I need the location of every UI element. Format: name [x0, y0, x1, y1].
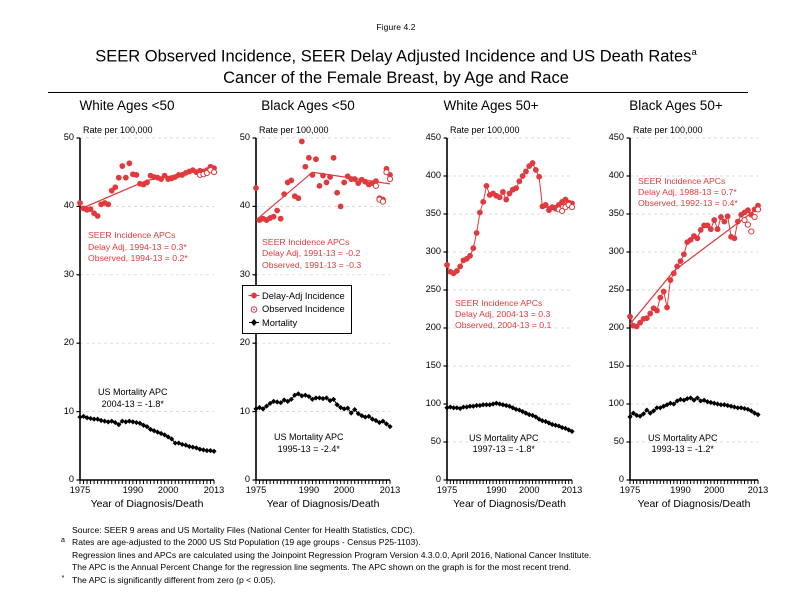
y-tick-label: 200	[578, 322, 624, 332]
delay-adj-incidence-marker	[126, 160, 132, 166]
figure-label: Figure 4.2	[0, 22, 792, 32]
y-tick-label: 10	[32, 406, 74, 416]
x-axis-title: Year of Diagnosis/Death	[66, 498, 228, 510]
legend-item: Observed Incidence	[247, 303, 345, 317]
delay-adj-incidence-marker	[536, 174, 542, 180]
y-tick-label: 250	[578, 284, 624, 294]
delay-adj-incidence-marker	[278, 216, 284, 222]
y-tick-label: 20	[213, 337, 250, 347]
delay-adj-incidence-marker	[341, 180, 347, 186]
observed-incidence-marker	[569, 205, 574, 210]
y-tick-label: 350	[397, 208, 441, 218]
chart-panel-white-50-plus: White Ages 50+Rate per 100,0000501001502…	[397, 98, 585, 498]
y-tick-label: 350	[578, 208, 624, 218]
delay-adj-incidence-marker	[134, 172, 140, 178]
observed-incidence-marker	[380, 199, 385, 204]
delay-adj-incidence-marker	[721, 219, 727, 225]
x-tick-label: 2000	[328, 485, 360, 495]
mortality-apc-annotation: US Mortality APC2004-13 = -1.8*	[98, 387, 168, 410]
delay-adj-incidence-marker	[313, 156, 319, 162]
y-tick-label: 0	[397, 474, 441, 484]
y-tick-label: 100	[578, 398, 624, 408]
incidence-apc-observed: Observed, 1991-13 = -0.3	[262, 260, 361, 271]
x-tick-label: 1975	[431, 485, 463, 495]
incidence-apc-annotation: SEER Incidence APCsDelay Adj, 2004-13 = …	[455, 298, 551, 332]
y-tick-label: 10	[213, 406, 250, 416]
delay-adj-incidence-marker	[735, 219, 741, 225]
delay-adj-incidence-marker	[477, 210, 483, 216]
incidence-apc-delay-adj: Delay Adj, 1988-13 = 0.7*	[638, 187, 738, 198]
delay-adj-incidence-marker	[530, 160, 536, 166]
footnote-line: The APC is the Annual Percent Change for…	[0, 561, 792, 573]
delay-adj-incidence-marker	[484, 183, 490, 189]
incidence-apc-annotation: SEER Incidence APCsDelay Adj, 1994-13 = …	[88, 230, 188, 264]
x-axis-title: Year of Diagnosis/Death	[242, 498, 404, 510]
delay-adj-incidence-marker	[647, 311, 653, 317]
delay-adj-incidence-marker	[302, 164, 308, 170]
y-tick-label: 40	[213, 200, 250, 210]
y-tick-label: 300	[397, 246, 441, 256]
delay-adj-incidence-marker	[681, 251, 687, 257]
incidence-apc-delay-adj: Delay Adj, 1994-13 = 0.3*	[88, 242, 188, 253]
delay-adj-incidence-marker	[664, 305, 670, 311]
y-tick-label: 150	[397, 360, 441, 370]
delay-adj-incidence-marker	[299, 139, 305, 145]
incidence-apc-annotation: SEER Incidence APCsDelay Adj, 1988-13 = …	[638, 176, 738, 210]
title-superscript: a	[691, 47, 696, 58]
mortality-apc-header: US Mortality APC	[98, 387, 168, 399]
legend-item: Mortality	[247, 316, 345, 330]
delay-adj-incidence-marker	[725, 213, 731, 219]
delay-adj-incidence-marker	[288, 178, 294, 184]
filled-black-marker-icon	[247, 317, 262, 328]
delay-adj-incidence-marker	[457, 264, 463, 270]
open-red-marker-icon	[247, 304, 262, 315]
delay-adj-incidence-marker	[708, 226, 714, 232]
y-tick-label: 50	[397, 436, 441, 446]
delay-adj-incidence-marker	[253, 185, 259, 191]
delay-adj-incidence-marker	[513, 185, 519, 191]
mortality-apc-annotation: US Mortality APC1997-13 = -1.8*	[469, 433, 539, 456]
chart-legend: Delay-Adj IncidenceObserved IncidenceMor…	[242, 285, 352, 334]
incidence-apc-header: SEER Incidence APCs	[88, 230, 188, 241]
x-tick-label: 1975	[64, 485, 96, 495]
delay-adj-incidence-marker	[678, 258, 684, 264]
delay-adj-incidence-marker	[123, 175, 129, 181]
incidence-apc-header: SEER Incidence APCs	[455, 298, 551, 309]
plot-area-white-under-50	[32, 98, 222, 498]
observed-incidence-marker	[755, 207, 760, 212]
delay-adj-incidence-marker	[671, 270, 677, 276]
y-tick-label: 300	[578, 246, 624, 256]
mortality-apc-header: US Mortality APC	[274, 432, 344, 444]
delay-adj-incidence-marker	[274, 208, 280, 214]
delay-adj-incidence-marker	[317, 183, 323, 189]
observed-incidence-marker	[742, 217, 747, 222]
delay-adj-incidence-marker	[119, 163, 125, 169]
mortality-apc-header: US Mortality APC	[469, 433, 539, 445]
y-tick-label: 400	[397, 170, 441, 180]
delay-adj-incidence-marker	[661, 289, 667, 295]
x-axis-title: Year of Diagnosis/Death	[616, 498, 772, 510]
y-tick-label: 100	[397, 398, 441, 408]
y-tick-label: 50	[213, 132, 250, 142]
delay-adj-incidence-marker	[334, 190, 340, 196]
incidence-apc-delay-adj: Delay Adj, 1991-13 = -0.2	[262, 248, 361, 259]
chart-panel-white-under-50: White Ages <50Rate per 100,0000102030405…	[32, 98, 222, 498]
delay-adj-incidence-marker	[295, 195, 301, 201]
mortality-apc-value: 1993-13 = -1.2*	[648, 444, 718, 456]
y-tick-label: 450	[578, 132, 624, 142]
delay-adj-incidence-marker	[654, 308, 660, 314]
y-tick-label: 400	[578, 170, 624, 180]
x-axis-title: Year of Diagnosis/Death	[433, 498, 586, 510]
delay-adj-incidence-marker	[474, 230, 480, 236]
delay-adj-incidence-marker	[668, 277, 674, 283]
footnote-text: The APC is the Annual Percent Change for…	[72, 562, 571, 572]
mortality-apc-value: 1997-13 = -1.8*	[469, 444, 539, 456]
x-tick-label: 2013	[742, 485, 774, 495]
delay-adj-incidence-marker	[320, 173, 326, 179]
footnote-line: Source: SEER 9 areas and US Mortality Fi…	[0, 524, 792, 536]
delay-adj-incidence-marker	[144, 180, 150, 186]
x-tick-label: 1990	[293, 485, 325, 495]
observed-incidence-marker	[752, 214, 757, 219]
incidence-apc-header: SEER Incidence APCs	[638, 176, 738, 187]
mortality-apc-value: 2004-13 = -1.8*	[98, 399, 168, 411]
delay-adj-incidence-marker	[467, 253, 473, 259]
x-tick-label: 1990	[117, 485, 149, 495]
footnote-marker: a	[57, 535, 69, 547]
y-tick-label: 0	[578, 474, 624, 484]
y-tick-label: 30	[213, 269, 250, 279]
legend-item: Delay-Adj Incidence	[247, 289, 345, 303]
x-tick-label: 1975	[614, 485, 646, 495]
observed-incidence-marker	[749, 229, 754, 234]
title-line-1: SEER Observed Incidence, SEER Delay Adju…	[95, 48, 691, 66]
delay-adj-incidence-marker	[732, 235, 738, 241]
observed-incidence-marker	[384, 170, 389, 175]
mortality-apc-header: US Mortality APC	[648, 433, 718, 445]
delay-adj-incidence-marker	[470, 245, 476, 251]
delay-adj-incidence-marker	[480, 199, 486, 205]
incidence-apc-annotation: SEER Incidence APCsDelay Adj, 1991-13 = …	[262, 237, 361, 271]
delay-adj-incidence-marker	[674, 264, 680, 270]
observed-incidence-marker	[745, 222, 750, 227]
delay-adj-incidence-marker	[503, 197, 509, 203]
delay-adj-incidence-marker	[95, 213, 101, 219]
footnote-text: Source: SEER 9 areas and US Mortality Fi…	[72, 525, 415, 535]
delay-adj-incidence-marker	[271, 214, 277, 220]
mortality-apc-annotation: US Mortality APC1993-13 = -1.2*	[648, 433, 718, 456]
delay-adj-incidence-marker	[500, 189, 506, 195]
y-tick-label: 50	[32, 132, 74, 142]
x-tick-label: 2000	[698, 485, 730, 495]
x-tick-label: 2000	[152, 485, 184, 495]
observed-incidence-marker	[373, 183, 378, 188]
delay-adj-incidence-marker	[327, 174, 333, 180]
delay-adj-incidence-marker	[324, 180, 330, 186]
incidence-apc-observed: Observed, 1992-13 = 0.4*	[638, 198, 738, 209]
delay-adj-incidence-marker	[112, 184, 118, 190]
y-tick-label: 50	[578, 436, 624, 446]
delay-adj-incidence-marker	[306, 155, 312, 161]
footnote-text: Rates are age-adjusted to the 2000 US St…	[72, 537, 421, 547]
mortality-apc-value: 1995-13 = -2.4*	[274, 444, 344, 456]
incidence-apc-header: SEER Incidence APCs	[262, 237, 361, 248]
delay-adj-incidence-marker	[657, 295, 663, 301]
incidence-apc-observed: Observed, 2004-13 = 0.1	[455, 320, 551, 331]
title-line-2: Cancer of the Female Breast, by Age and …	[223, 69, 569, 87]
delay-adj-incidence-marker	[543, 202, 549, 208]
delay-adj-incidence-marker	[516, 178, 522, 184]
x-tick-label: 2000	[513, 485, 545, 495]
y-tick-label: 450	[397, 132, 441, 142]
footnote-marker: *	[57, 573, 69, 585]
delay-adj-incidence-marker	[310, 172, 316, 178]
y-tick-label: 30	[32, 269, 74, 279]
mortality-apc-annotation: US Mortality APC1995-13 = -2.4*	[274, 432, 344, 455]
footnote-line: Regression lines and APCs are calculated…	[0, 549, 792, 561]
footnote-text: Regression lines and APCs are calculated…	[72, 550, 591, 560]
y-tick-label: 200	[397, 322, 441, 332]
delay-adj-incidence-marker	[105, 201, 111, 207]
delay-adj-incidence-marker	[694, 235, 700, 241]
y-tick-label: 0	[32, 474, 74, 484]
filled-red-marker-icon	[247, 290, 262, 301]
observed-incidence-marker	[387, 176, 392, 181]
delay-adj-incidence-marker	[711, 217, 717, 223]
y-tick-label: 250	[397, 284, 441, 294]
y-tick-label: 20	[32, 337, 74, 347]
delay-adj-incidence-marker	[77, 200, 83, 206]
incidence-apc-observed: Observed, 1994-13 = 0.2*	[88, 253, 188, 264]
footnotes: Source: SEER 9 areas and US Mortality Fi…	[0, 524, 792, 586]
y-tick-label: 150	[578, 360, 624, 370]
delay-adj-incidence-marker	[523, 169, 529, 175]
x-tick-label: 1990	[665, 485, 697, 495]
delay-adj-incidence-marker	[533, 167, 539, 173]
incidence-apc-delay-adj: Delay Adj, 2004-13 = 0.3	[455, 309, 551, 320]
footnote-text: The APC is significantly different from …	[72, 575, 276, 585]
legend-item-label: Delay-Adj Incidence	[262, 291, 345, 301]
delay-adj-incidence-marker	[338, 204, 344, 210]
page-title: SEER Observed Incidence, SEER Delay Adju…	[0, 42, 792, 89]
delay-adj-incidence-marker	[444, 262, 450, 268]
footnote-line: aRates are age-adjusted to the 2000 US S…	[0, 536, 792, 548]
header-divider	[48, 92, 748, 93]
y-tick-label: 40	[32, 200, 74, 210]
legend-item-label: Observed Incidence	[262, 304, 345, 314]
x-tick-label: 1975	[240, 485, 272, 495]
delay-adj-incidence-marker	[281, 191, 287, 197]
footnote-line: *The APC is significantly different from…	[0, 574, 792, 586]
delay-adj-incidence-marker	[627, 314, 633, 320]
y-tick-label: 0	[213, 474, 250, 484]
delay-adj-incidence-marker	[715, 226, 721, 232]
delay-adj-incidence-marker	[497, 194, 503, 200]
legend-item-label: Mortality	[262, 318, 297, 328]
chart-panels-container: White Ages <50Rate per 100,0000102030405…	[0, 98, 792, 498]
delay-adj-incidence-marker	[331, 155, 337, 161]
chart-panel-black-50-plus: Black Ages 50+Rate per 100,0000501001502…	[578, 98, 774, 498]
x-tick-label: 1990	[480, 485, 512, 495]
delay-adj-incidence-marker	[116, 175, 122, 181]
